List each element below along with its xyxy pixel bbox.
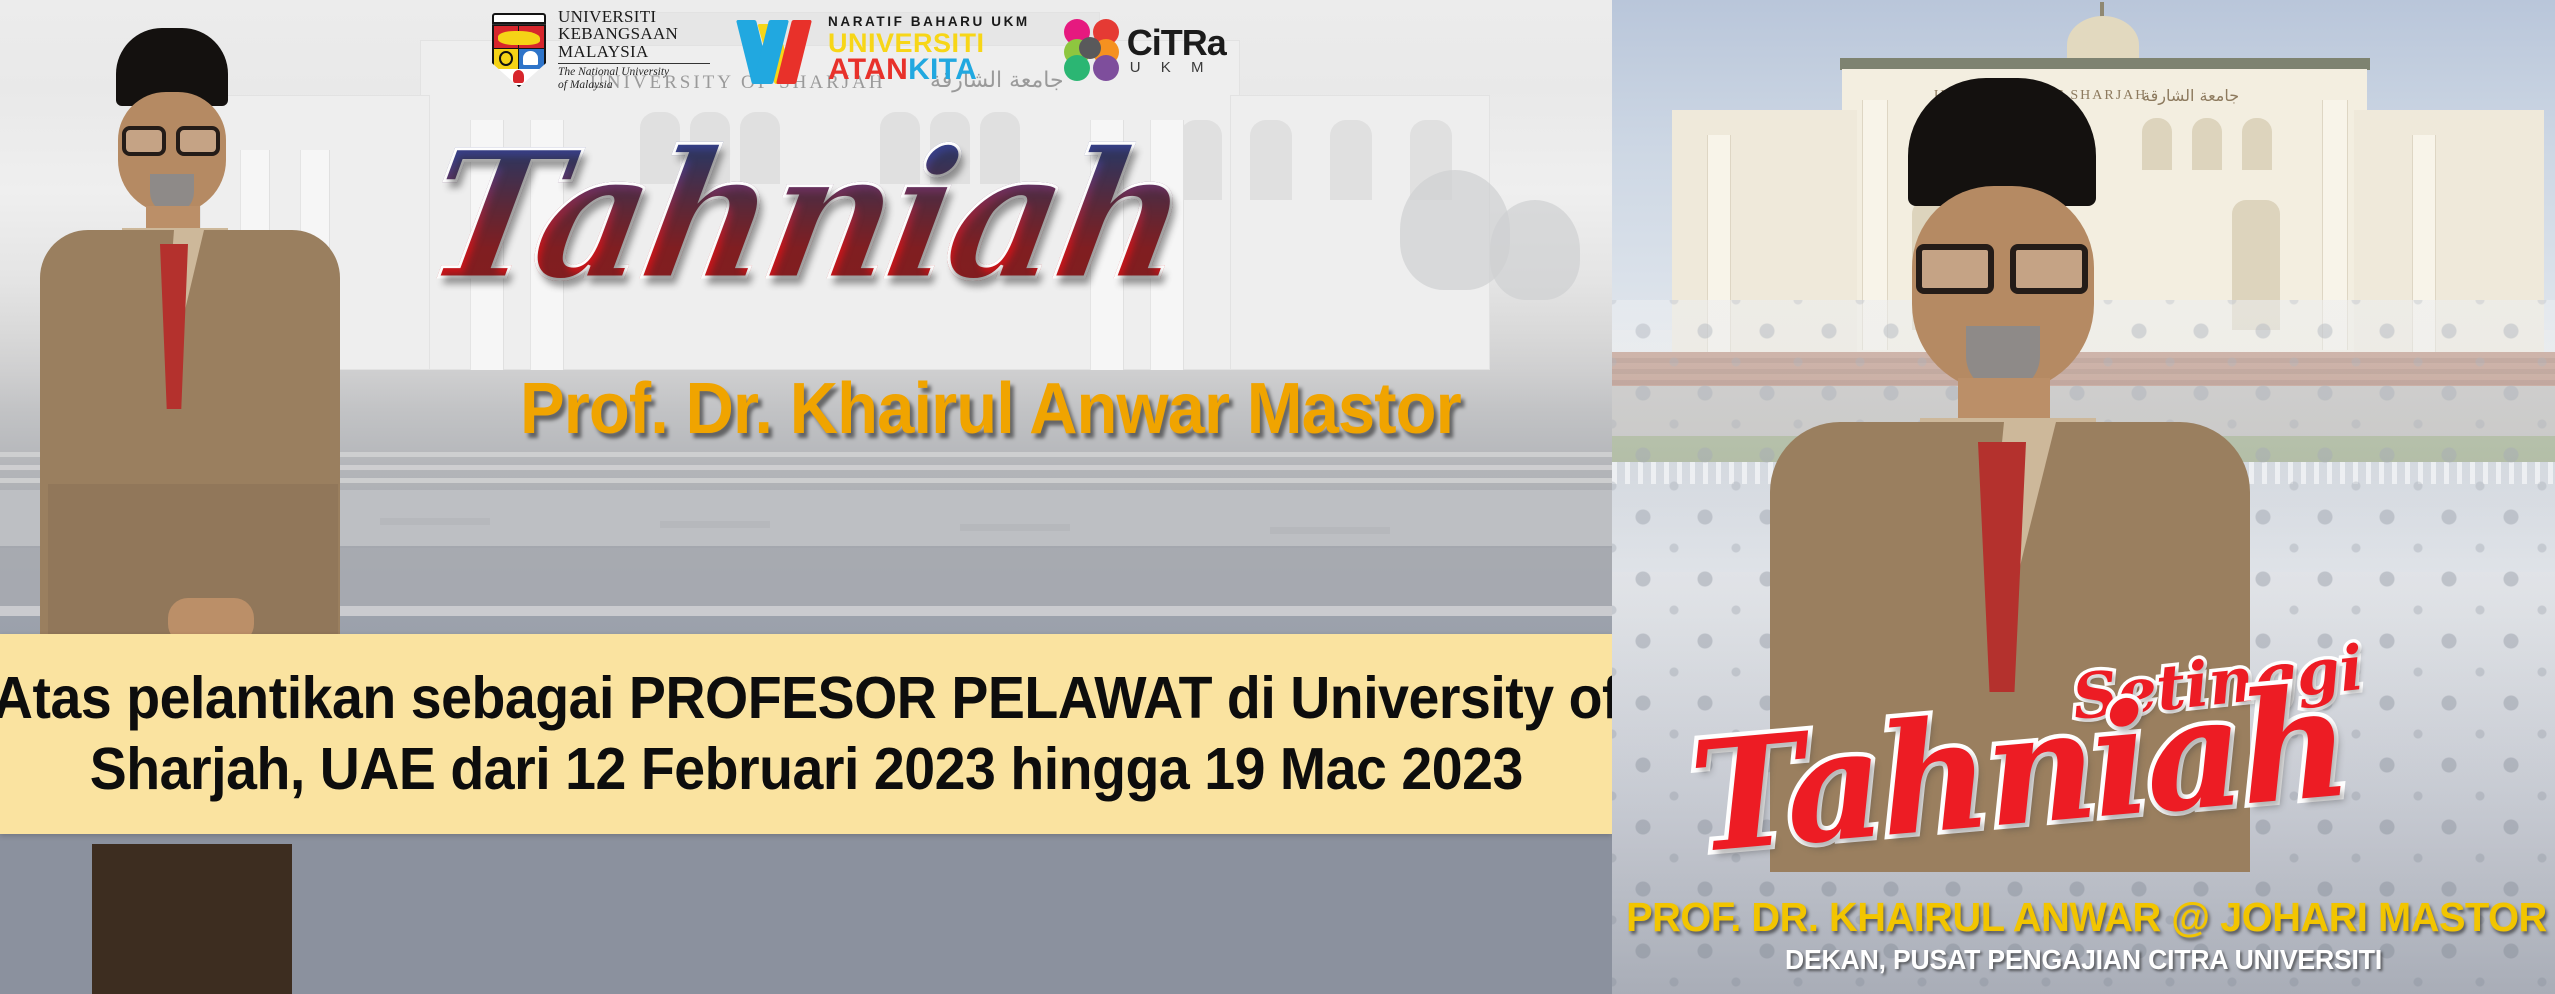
backdrop-kerb — [660, 521, 770, 528]
watan-bottom-blue: KITA — [908, 53, 977, 86]
watan-top-line: NARATIF BAHARU UKM — [828, 15, 1030, 29]
ukm-divider — [558, 63, 710, 65]
watan-wordmark: NARATIF BAHARU UKM UNIVERSITI ATANKITA — [828, 15, 1030, 85]
logo-strip: UNIVERSITI KEBANGSAAN MALAYSIA The Natio… — [490, 8, 1226, 92]
citra-butterfly-icon — [1064, 19, 1120, 81]
right-honouree-role: DEKAN, PUSAT PENGAJIAN CITRA UNIVERSITI — [1636, 944, 2532, 976]
eyeglasses-left-lens — [122, 126, 166, 156]
citra-word: CiTRa — [1127, 25, 1226, 61]
caption-box: Atas pelantikan sebagai PROFESOR PELAWAT… — [0, 634, 1612, 834]
congratulatory-banner: UNIVERSITY OF SHARJAH جامعة الشارقة — [0, 0, 2555, 994]
tahniah-script-headline: Tahniah — [412, 112, 1199, 319]
eyeglasses-left-lens — [1916, 244, 1994, 294]
caption-line-2: Sharjah, UAE dari 12 Februari 2023 hingg… — [89, 737, 1522, 802]
watan-kita-logo: NARATIF BAHARU UKM UNIVERSITI ATANKITA — [744, 15, 1030, 85]
citra-ukm-logo: CiTRa U K M — [1064, 19, 1226, 81]
backdrop-kerb — [1270, 527, 1390, 534]
ukm-tagline-1: The National University — [558, 66, 710, 79]
backdrop-kerb — [380, 518, 490, 525]
trousers — [92, 844, 292, 994]
right-honouree-name: PROF. DR. KHAIRUL ANWAR @ JOHARI MASTOR — [1626, 894, 2541, 941]
left-panel: UNIVERSITY OF SHARJAH جامعة الشارقة — [0, 0, 1612, 994]
honouree-name: Prof. Dr. Khairul Anwar Mastor — [520, 368, 1461, 450]
citra-wordmark: CiTRa U K M — [1127, 25, 1226, 75]
w-mark-icon — [744, 16, 822, 84]
eyeglasses-right-lens — [176, 126, 220, 156]
watan-bottom-line: ATANKITA — [828, 55, 1030, 85]
backdrop-window — [1250, 120, 1292, 200]
watan-bottom-red: ATAN — [828, 53, 908, 86]
caption-line-1: Atas pelantikan sebagai PROFESOR PELAWAT… — [0, 666, 1612, 731]
ukm-line-3: MALAYSIA — [558, 43, 710, 60]
ukm-line-2: KEBANGSAAN — [558, 25, 710, 42]
ukm-wordmark: UNIVERSITI KEBANGSAAN MALAYSIA The Natio… — [558, 8, 710, 92]
ukm-line-1: UNIVERSITI — [558, 8, 710, 25]
backdrop-kerb — [960, 524, 1070, 531]
ukm-logo: UNIVERSITI KEBANGSAAN MALAYSIA The Natio… — [490, 8, 710, 92]
ukm-tagline-2: of Malaysia — [558, 79, 710, 92]
eyeglasses-right-lens — [2010, 244, 2088, 294]
citra-ukm-subtext: U K M — [1127, 60, 1226, 75]
portrait-left — [18, 14, 378, 994]
backdrop-window — [1330, 120, 1372, 200]
backdrop-palm-tree — [1490, 200, 1580, 300]
ukm-crest-icon — [490, 13, 548, 87]
